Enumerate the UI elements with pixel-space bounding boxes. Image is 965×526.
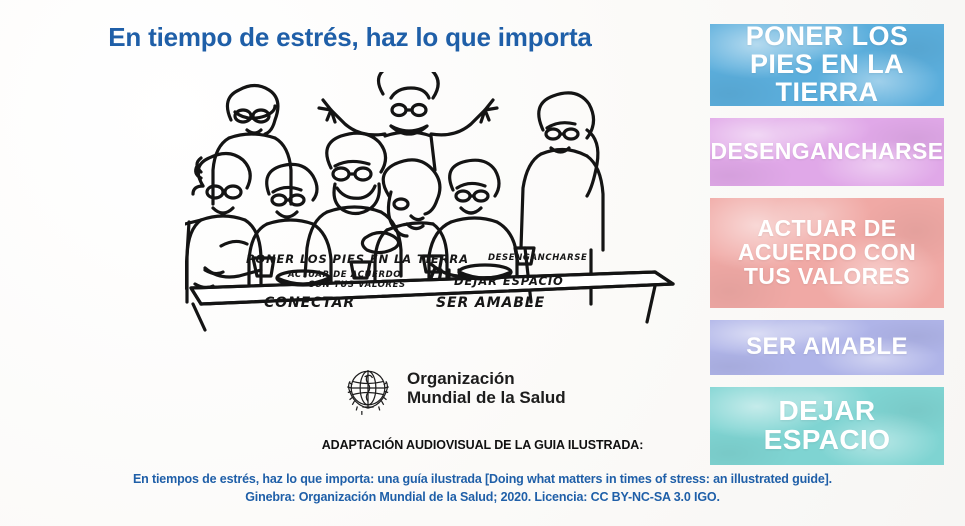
who-line-1: Organización xyxy=(407,369,566,388)
card-label: ACTUAR DE ACUERDO CON TUS VALORES xyxy=(710,217,944,288)
page-title: En tiempo de estrés, haz lo que importa xyxy=(0,22,700,53)
card-desengancharse[interactable]: DESENGANCHARSE xyxy=(710,118,944,186)
who-emblem-icon xyxy=(340,360,396,416)
slide-canvas: En tiempo de estrés, haz lo que importa xyxy=(0,0,965,526)
card-ser-amable[interactable]: SER AMABLE xyxy=(710,320,944,375)
card-dejar-espacio[interactable]: DEJAR ESPACIO xyxy=(710,387,944,465)
citation-line-1: En tiempos de estrés, haz lo que importa… xyxy=(0,470,965,488)
card-poner-los-pies-en-la-tierra[interactable]: PONER LOS PIES EN LA TIERRA xyxy=(710,24,944,106)
card-label: PONER LOS PIES EN LA TIERRA xyxy=(710,24,944,106)
skill-cards-column: PONER LOS PIES EN LA TIERRA DESENGANCHAR… xyxy=(710,24,944,477)
footer-citation: En tiempos de estrés, haz lo que importa… xyxy=(0,470,965,506)
card-label: SER AMABLE xyxy=(740,335,914,360)
who-logo: Organización Mundial de la Salud xyxy=(340,360,566,416)
citation-line-2: Ginebra: Organización Mundial de la Salu… xyxy=(0,488,965,506)
who-line-2: Mundial de la Salud xyxy=(407,388,566,407)
group-around-table-drawing xyxy=(185,72,695,337)
illustration xyxy=(185,72,695,337)
card-label: DESENGANCHARSE xyxy=(710,140,944,164)
card-label: DEJAR ESPACIO xyxy=(710,397,944,455)
card-actuar-de-acuerdo-con-tus-valores[interactable]: ACTUAR DE ACUERDO CON TUS VALORES xyxy=(710,198,944,308)
who-logo-text: Organización Mundial de la Salud xyxy=(407,369,566,407)
